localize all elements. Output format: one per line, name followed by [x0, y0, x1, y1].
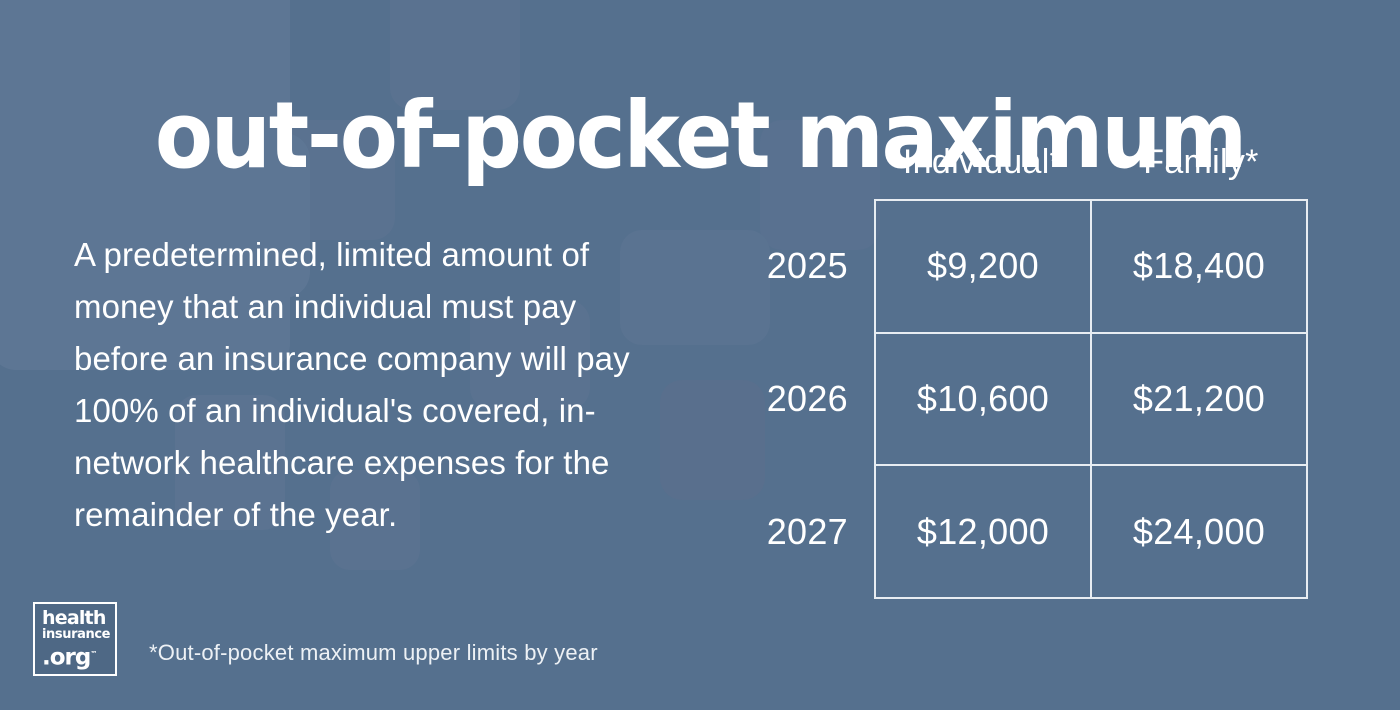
cell-2026-individual: $10,600: [876, 334, 1092, 465]
table-row: $10,600 $21,200: [876, 334, 1306, 467]
trademark-icon: ™: [90, 650, 97, 658]
logo-org-text: .org: [42, 644, 90, 670]
healthinsurance-org-logo: health insurance .org™: [33, 602, 117, 676]
cell-2027-family: $24,000: [1092, 466, 1306, 597]
logo-line-insurance: insurance: [42, 628, 110, 642]
cell-2025-family: $18,400: [1092, 201, 1306, 332]
table-row-labels: 2025 2026 2027: [700, 199, 848, 599]
logo-line-org: .org™: [42, 642, 97, 670]
table-grid: $9,200 $18,400 $10,600 $21,200 $12,000 $…: [874, 199, 1308, 599]
footnote-text: *Out-of-pocket maximum upper limits by y…: [149, 640, 598, 666]
infographic-canvas: out-of-pocket maximum A predetermined, l…: [0, 0, 1400, 710]
cell-2026-family: $21,200: [1092, 334, 1306, 465]
row-label-2025: 2025: [700, 199, 848, 332]
table-row: $9,200 $18,400: [876, 201, 1306, 334]
column-header-family: Family*: [1092, 140, 1310, 198]
logo-line-health: health: [42, 609, 106, 628]
description-paragraph: A predetermined, limited amount of money…: [74, 229, 674, 541]
table-column-headers: Individual* Family*: [874, 140, 1310, 198]
row-label-2027: 2027: [700, 466, 848, 599]
cell-2027-individual: $12,000: [876, 466, 1092, 597]
out-of-pocket-maximum-table: Individual* Family* 2025 2026 2027 $9,20…: [700, 140, 1320, 610]
table-row: $12,000 $24,000: [876, 466, 1306, 597]
column-header-individual: Individual*: [874, 140, 1092, 198]
row-label-2026: 2026: [700, 332, 848, 465]
cell-2025-individual: $9,200: [876, 201, 1092, 332]
